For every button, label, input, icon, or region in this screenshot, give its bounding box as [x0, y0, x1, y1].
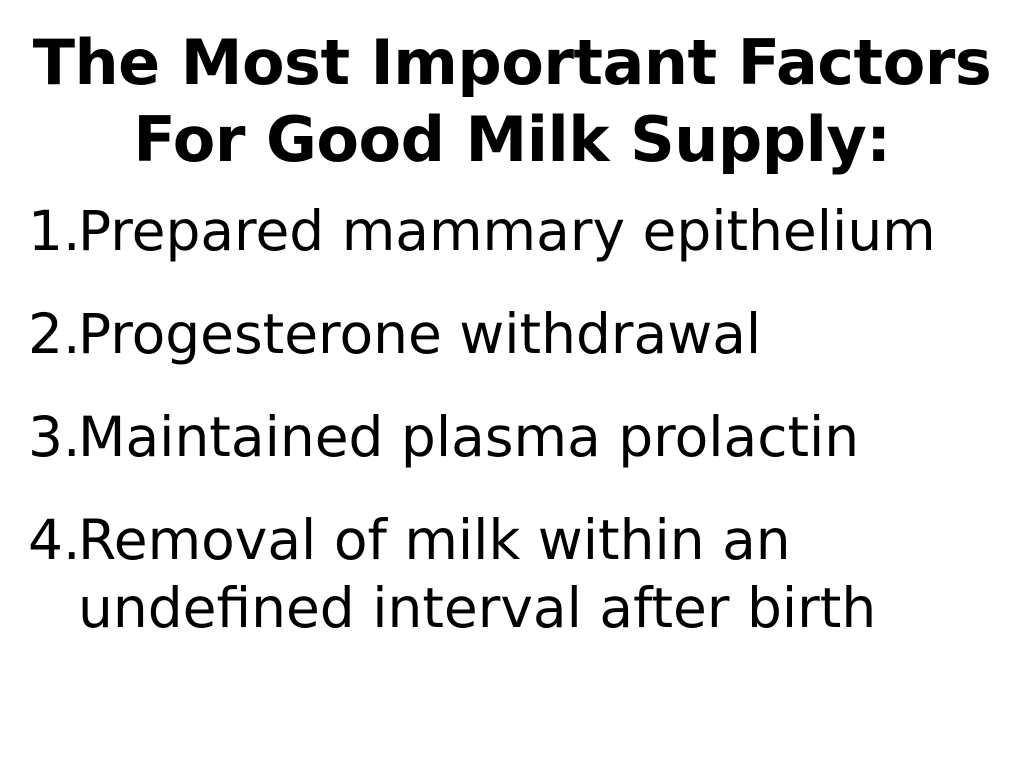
numbered-list: 1. Prepared mammary epithelium 2. Proges… [28, 197, 1012, 642]
list-item-number: 2. [28, 300, 78, 368]
slide-title: The Most Important Factors For Good Milk… [0, 24, 1024, 178]
list-item-text: Removal of milk within an undefined inte… [78, 506, 1012, 642]
list-item: 4. Removal of milk within an undefined i… [28, 506, 1012, 642]
presentation-slide: The Most Important Factors For Good Milk… [0, 0, 1024, 768]
list-item-number: 3. [28, 403, 78, 471]
list-item-text: Prepared mammary epithelium [78, 197, 1012, 265]
list-item: 1. Prepared mammary epithelium [28, 197, 1012, 265]
list-item-text: Maintained plasma prolactin [78, 403, 1012, 471]
list-item: 2. Progesterone withdrawal [28, 300, 1012, 368]
list-item: 3. Maintained plasma prolactin [28, 403, 1012, 471]
list-item-number: 1. [28, 197, 78, 265]
list-item-number: 4. [28, 506, 78, 574]
list-item-text: Progesterone withdrawal [78, 300, 1012, 368]
